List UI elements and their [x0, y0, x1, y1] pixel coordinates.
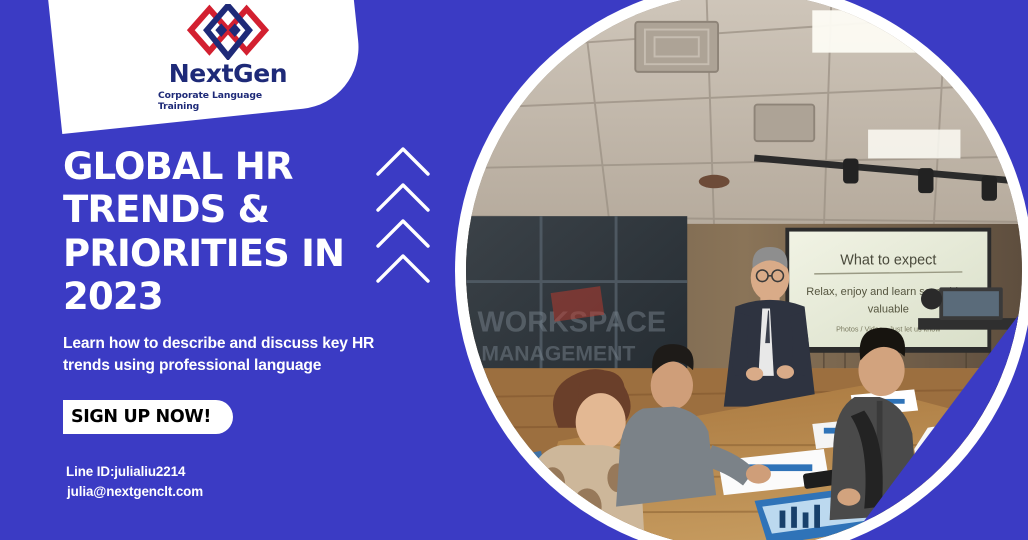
- svg-text:MANAGEMENT: MANAGEMENT: [481, 342, 635, 365]
- brand-logo: NextGen Corporate Language Training: [158, 4, 298, 112]
- photo-circle-frame: WORKSPACE MANAGEMENT What to expect Rela…: [455, 0, 1028, 540]
- logo-tagline: Corporate Language Training: [158, 90, 298, 112]
- subtitle: Learn how to describe and discuss key HR…: [63, 333, 393, 377]
- contact-email: julia@nextgenclt.com: [66, 482, 203, 502]
- promo-banner: NextGen Corporate Language Training GLOB…: [0, 0, 1028, 540]
- sign-up-button-label: SIGN UP NOW!: [71, 407, 211, 427]
- contact-info: Line ID:julialiu2214 julia@nextgenclt.co…: [66, 462, 203, 503]
- svg-text:What to expect: What to expect: [840, 252, 936, 268]
- photo-illustration: WORKSPACE MANAGEMENT What to expect Rela…: [466, 0, 1022, 540]
- page-title: GLOBAL HR TRENDS & PRIORITIES IN 2023: [63, 145, 381, 318]
- training-session-photo: WORKSPACE MANAGEMENT What to expect Rela…: [466, 0, 1022, 540]
- interlocking-diamonds-icon: [181, 4, 275, 60]
- contact-line-id: Line ID:julialiu2214: [66, 462, 203, 482]
- svg-text:valuable: valuable: [868, 303, 909, 315]
- sign-up-button[interactable]: SIGN UP NOW!: [63, 400, 233, 434]
- logo-wordmark: NextGen: [169, 61, 287, 87]
- chevron-up-stack-icon: [374, 143, 432, 285]
